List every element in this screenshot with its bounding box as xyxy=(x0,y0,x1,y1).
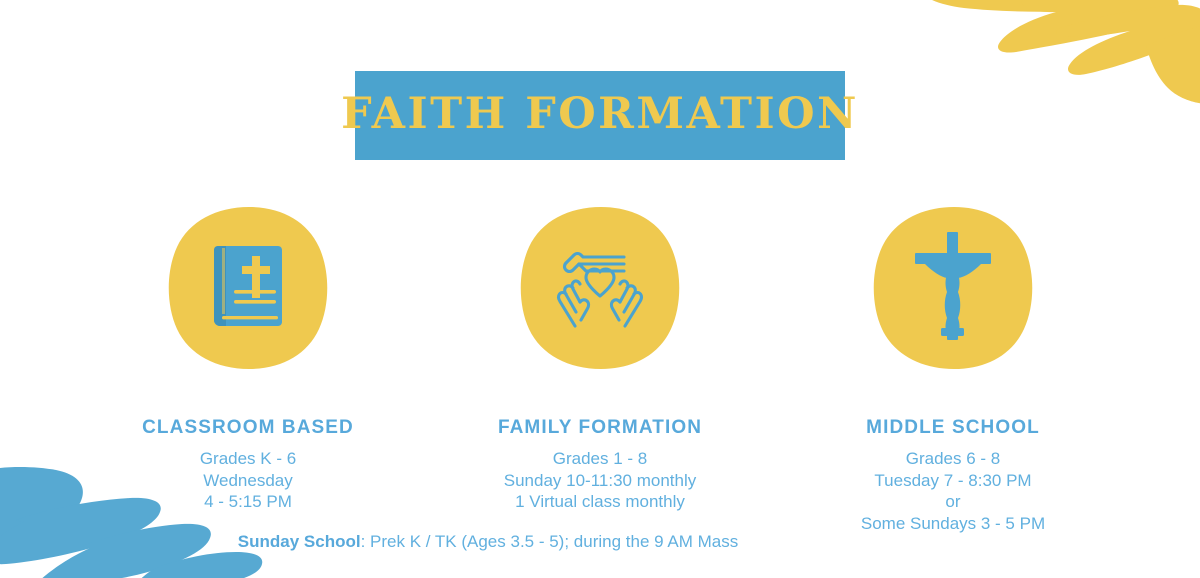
column-detail-line: Grades 6 - 8 xyxy=(861,448,1045,470)
column-detail-line: Some Sundays 3 - 5 PM xyxy=(861,513,1045,535)
footer-note-body: Prek K / TK (Ages 3.5 - 5); during the 9… xyxy=(370,532,738,551)
page-title: FAITH FORMATION xyxy=(341,93,859,139)
icon-circle-family-formation xyxy=(519,205,681,371)
faith-formation-poster: FAITH FORMATION xyxy=(0,0,1200,578)
column-detail-line: 4 - 5:15 PM xyxy=(200,491,296,513)
column-detail-line: or xyxy=(861,491,1045,513)
column-detail-line: Grades K - 6 xyxy=(200,448,296,470)
hands-holding-heart-icon xyxy=(550,238,650,338)
footer-note-label: Sunday School xyxy=(238,532,361,551)
column-detail-lines: Grades 6 - 8 Tuesday 7 - 8:30 PM or Some… xyxy=(861,448,1045,534)
column-detail-lines: Grades 1 - 8 Sunday 10-11:30 monthly 1 V… xyxy=(504,448,696,513)
crucifix-icon xyxy=(905,230,1001,346)
column-detail-line: Grades 1 - 8 xyxy=(504,448,696,470)
column-detail-lines: Grades K - 6 Wednesday 4 - 5:15 PM xyxy=(200,448,296,513)
column-heading: FAMILY FORMATION xyxy=(498,417,702,439)
title-banner: FAITH FORMATION xyxy=(355,71,845,160)
column-heading: CLASSROOM BASED xyxy=(142,417,354,439)
column-detail-line: 1 Virtual class monthly xyxy=(504,491,696,513)
program-column-classroom-based: CLASSROOM BASED Grades K - 6 Wednesday 4… xyxy=(72,205,424,534)
program-column-family-formation: FAMILY FORMATION Grades 1 - 8 Sunday 10-… xyxy=(424,205,776,534)
column-heading: MIDDLE SCHOOL xyxy=(866,417,1040,439)
footer-note-text: Sunday School: Prek K / TK (Ages 3.5 - 5… xyxy=(238,532,738,552)
program-columns: CLASSROOM BASED Grades K - 6 Wednesday 4… xyxy=(0,205,1200,534)
column-detail-line: Tuesday 7 - 8:30 PM xyxy=(861,470,1045,492)
column-detail-line: Wednesday xyxy=(200,470,296,492)
footer-note: Sunday School: Prek K / TK (Ages 3.5 - 5… xyxy=(0,532,1200,552)
bible-book-icon xyxy=(202,242,294,334)
brush-stroke-top-right-icon xyxy=(910,0,1200,106)
icon-circle-middle-school xyxy=(872,205,1034,371)
program-column-middle-school: MIDDLE SCHOOL Grades 6 - 8 Tuesday 7 - 8… xyxy=(777,205,1129,534)
footer-note-separator: : xyxy=(361,532,370,551)
icon-circle-classroom-based xyxy=(167,205,329,371)
column-detail-line: Sunday 10-11:30 monthly xyxy=(504,470,696,492)
